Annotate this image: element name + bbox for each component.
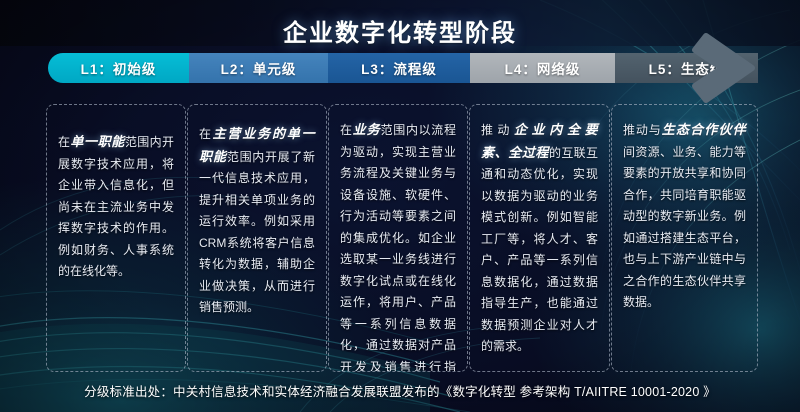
stage-card-l5-body: 推动与生态合作伙伴间资源、业务、能力等要素的开放共享和协同合作，共同培育职能驱动… xyxy=(623,119,746,314)
stage-card-l3-body: 在业务范围内以流程为驱动，实现主营业务流程及关键业务与设备设施、软硬件、行为活动… xyxy=(340,119,456,372)
chevron-right-icon xyxy=(692,26,764,110)
stage-card-l5-text: 间资源、业务、能力等要素的开放共享和协同合作，共同培育职能驱动型的数字新业务。例… xyxy=(623,145,746,310)
stage-card-l3: 在业务范围内以流程为驱动，实现主营业务流程及关键业务与设备设施、软硬件、行为活动… xyxy=(328,104,468,372)
stage-card-l3-text: 范围内以流程为驱动，实现主营业务流程及关键业务与设备设施、软硬件、行为活动等要素… xyxy=(340,123,456,372)
stage-card-l4: 推动企业内全要素、全过程的互联互通和动态优化，实现以数据为驱动的业务模式创新。例… xyxy=(469,104,610,372)
stage-card-l4-prefix: 推动 xyxy=(481,123,514,137)
stage-card-l2-text: 范围内开展了新一代信息技术应用，提升相关单项业务的运行效率。例如采用CRM系统将… xyxy=(199,150,315,315)
stage-card-l4-body: 推动企业内全要素、全过程的互联互通和动态优化，实现以数据为驱动的业务模式创新。例… xyxy=(481,119,598,358)
stage-card-l5-highlight: 生态合作伙伴 xyxy=(662,122,746,137)
stage-card-l1-prefix: 在 xyxy=(58,135,70,149)
stage-card-l1: 在单一职能范围内开展数字技术应用，将企业带入信息化，但尚未在主流业务中发挥数字技… xyxy=(46,104,186,372)
level-segment-l1[interactable]: L1：初始级 xyxy=(48,53,189,83)
source-note: 分级标准出处：中关村信息技术和实体经济融合发展联盟发布的《数字化转型 参考架构 … xyxy=(0,381,800,400)
level-segment-l3[interactable]: L3：流程级 xyxy=(328,53,470,83)
stage-cards: 在单一职能范围内开展数字技术应用，将企业带入信息化，但尚未在主流业务中发挥数字技… xyxy=(46,104,758,372)
maturity-level-bar: L1：初始级 L2：单元级 L3：流程级 L4：网络级 L5：生态级 xyxy=(48,53,758,83)
stage-card-l5: 推动与生态合作伙伴间资源、业务、能力等要素的开放共享和协同合作，共同培育职能驱动… xyxy=(611,104,758,372)
level-segment-l2[interactable]: L2：单元级 xyxy=(189,53,328,83)
stage-card-l2: 在主营业务的单一职能范围内开展了新一代信息技术应用，提升相关单项业务的运行效率。… xyxy=(187,104,327,372)
stage-card-l3-highlight: 业务 xyxy=(353,122,381,137)
stage-card-l2-prefix: 在 xyxy=(199,127,213,141)
stage-card-l5-prefix: 推动与 xyxy=(623,123,662,137)
stage-card-l1-body: 在单一职能范围内开展数字技术应用，将企业带入信息化，但尚未在主流业务中发挥数字技… xyxy=(58,119,174,283)
level-segment-l4[interactable]: L4：网络级 xyxy=(470,53,615,83)
page-title: 企业数字化转型阶段 xyxy=(0,13,800,48)
slide-canvas: 企业数字化转型阶段 L1：初始级 L2：单元级 L3：流程级 L4：网络级 L5… xyxy=(0,0,800,412)
stage-card-l1-text: 范围内开展数字技术应用，将企业带入信息化，但尚未在主流业务中发挥数字技术的作用。… xyxy=(58,135,174,278)
stage-card-l3-prefix: 在 xyxy=(340,123,353,137)
stage-card-l4-text: 的互联互通和动态优化，实现以数据为驱动的业务模式创新。例如智能工厂等，将人才、客… xyxy=(481,146,598,354)
stage-card-l2-body: 在主营业务的单一职能范围内开展了新一代信息技术应用，提升相关单项业务的运行效率。… xyxy=(199,119,315,319)
stage-card-l1-highlight: 单一职能 xyxy=(70,134,125,149)
